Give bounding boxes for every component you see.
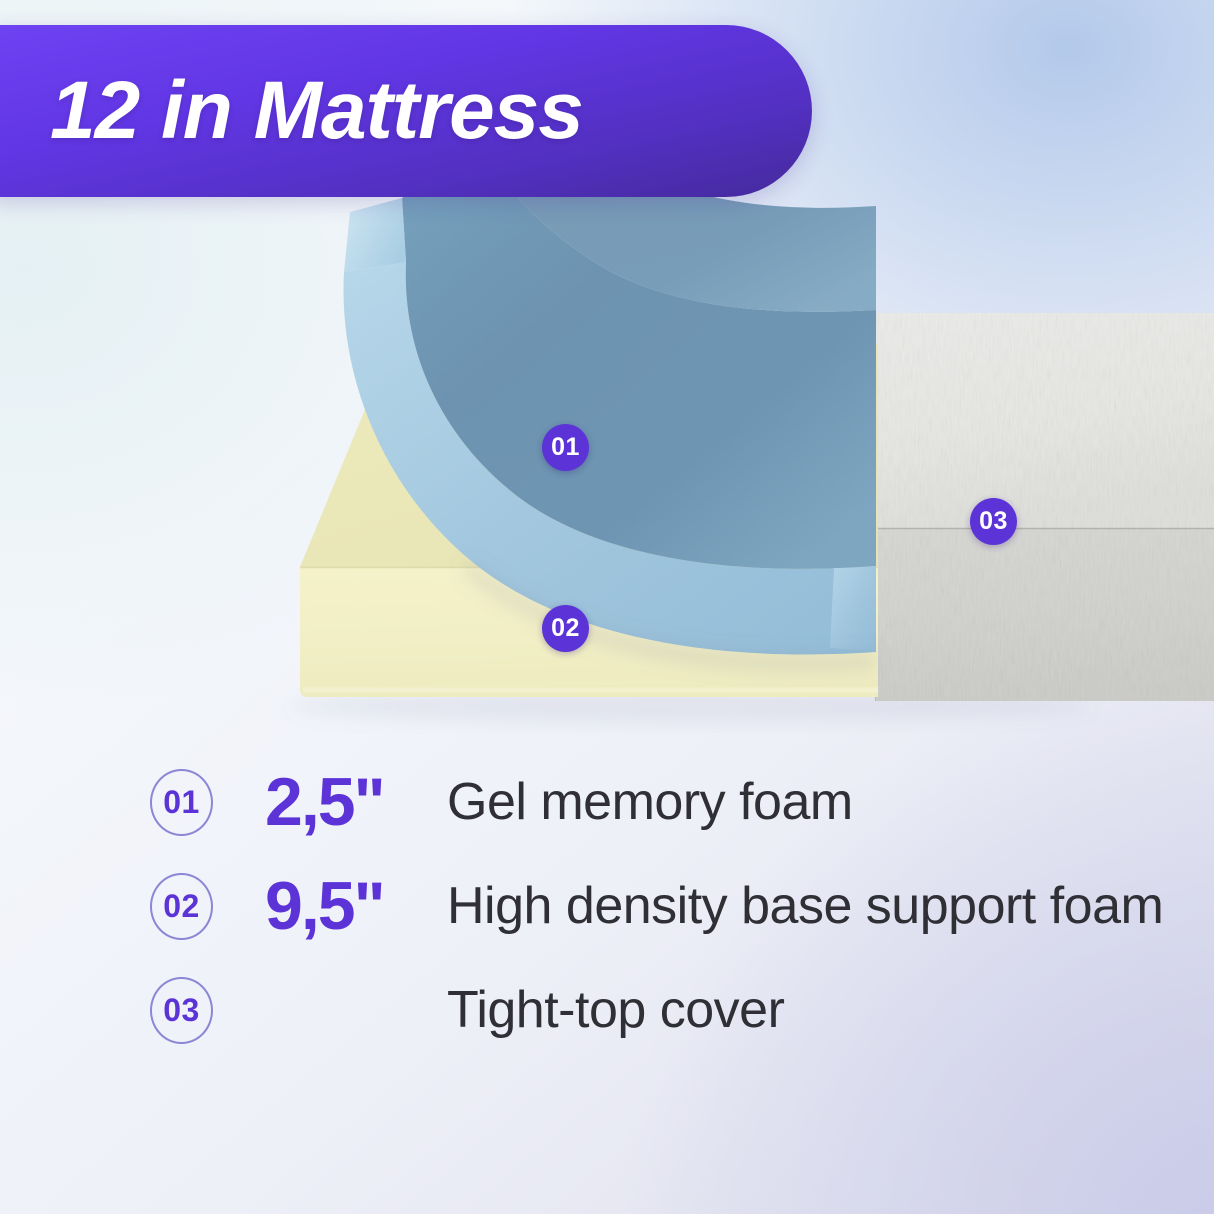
infographic-page: 12 in Mattress 01 02 03 01 2,5" Gel memo…	[0, 0, 1214, 1214]
legend-row-03: 03 Tight-top cover	[0, 958, 1214, 1062]
diagram-callout-01[interactable]: 01	[542, 424, 589, 471]
legend-badge-01: 01	[150, 769, 213, 836]
legend-description-03: Tight-top cover	[447, 984, 784, 1036]
cover-front-face	[875, 528, 1214, 701]
legend-description-02: High density base support foam	[447, 880, 1163, 932]
legend-badge-03: 03	[150, 977, 213, 1044]
legend-measure-02: 9,5"	[265, 872, 447, 940]
legend-badge-02: 02	[150, 873, 213, 940]
page-title: 12 in Mattress	[50, 70, 583, 152]
legend-row-01: 01 2,5" Gel memory foam	[0, 750, 1214, 854]
title-banner: 12 in Mattress	[0, 25, 812, 197]
legend-row-02: 02 9,5" High density base support foam	[0, 854, 1214, 958]
gel-foam-tip	[830, 566, 876, 650]
diagram-callout-03[interactable]: 03	[970, 498, 1017, 545]
diagram-callout-02[interactable]: 02	[542, 605, 589, 652]
cover-top-face	[875, 313, 1214, 528]
gel-foam-rim-highlight	[344, 198, 406, 272]
legend-measure-01: 2,5"	[265, 768, 447, 836]
legend-description-01: Gel memory foam	[447, 776, 853, 828]
layer-legend-list: 01 2,5" Gel memory foam 02 9,5" High den…	[0, 750, 1214, 1062]
cover-layer-03	[875, 313, 1214, 701]
